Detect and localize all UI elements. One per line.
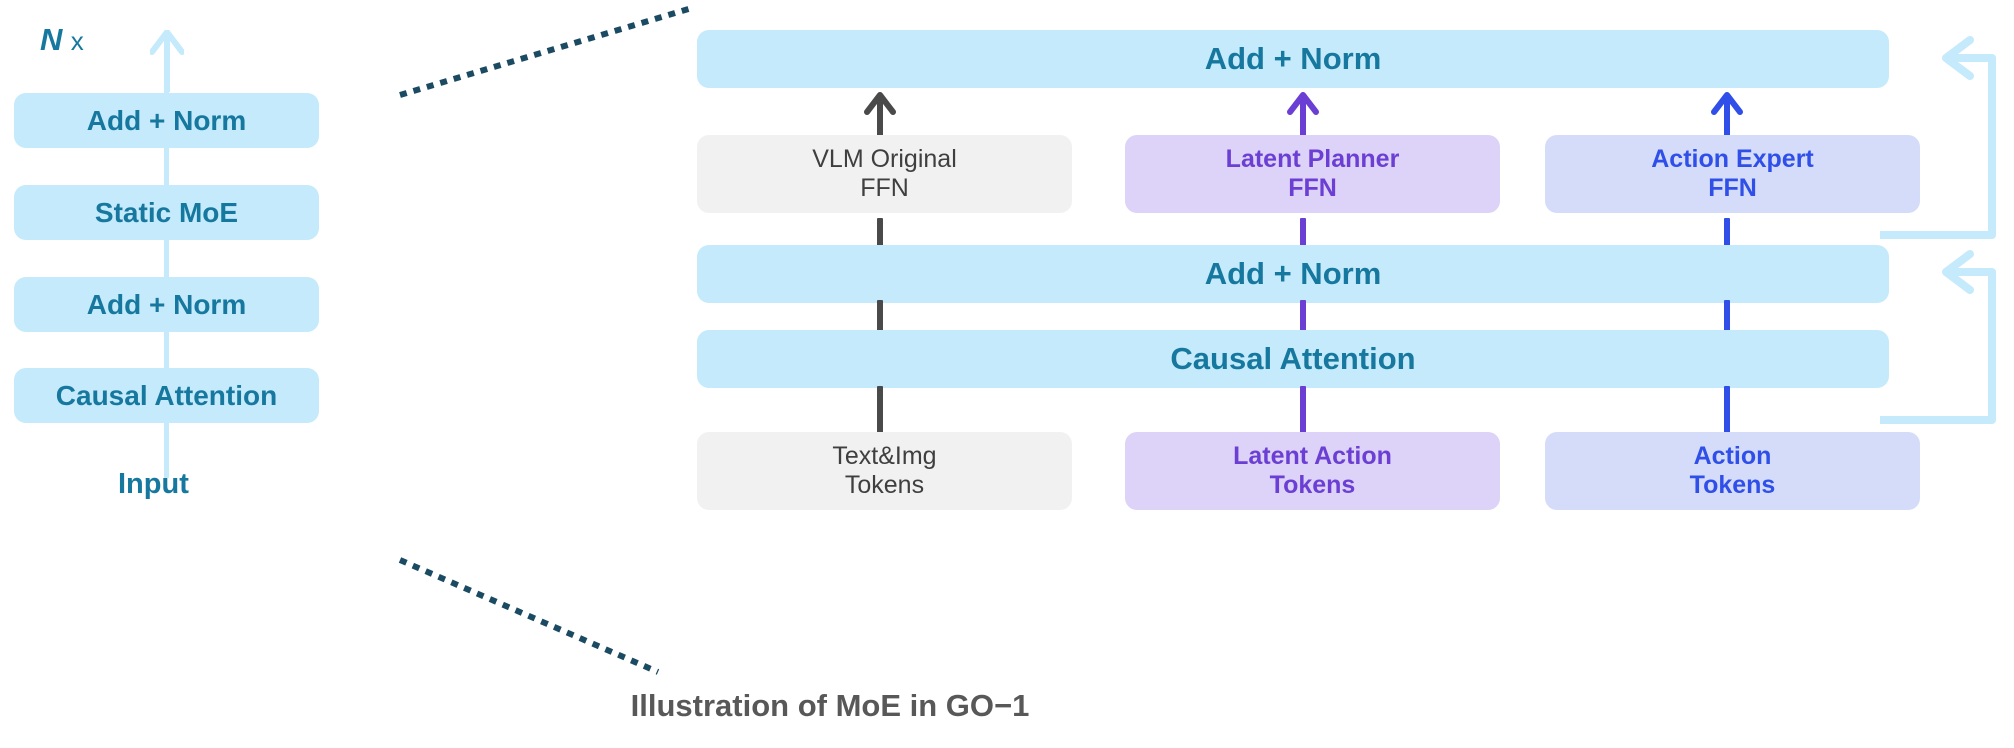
connector-attention-to-addnorm-vlm: [877, 300, 883, 334]
token-box-action[interactable]: Action Tokens: [1545, 432, 1920, 510]
ffn-box-vlm-original[interactable]: VLM Original FFN: [697, 135, 1072, 213]
connector-tokens-to-attention-planner: [1300, 386, 1306, 434]
residual-path-lower: [1880, 272, 1992, 420]
connector-attention-to-addnorm-planner: [1300, 300, 1306, 334]
connector-attention-to-addnorm-action: [1724, 300, 1730, 334]
ffn-to-addnorm-arrow-planner-icon: [1287, 92, 1319, 136]
ffn-to-addnorm-arrow-action-icon: [1711, 92, 1743, 136]
right-add-norm-mid[interactable]: Add + Norm: [697, 245, 1889, 303]
figure-caption: Illustration of MoE in GO−1: [0, 688, 1660, 724]
right-causal-attention[interactable]: Causal Attention: [697, 330, 1889, 388]
connector-tokens-to-attention-vlm: [877, 386, 883, 434]
right-add-norm-top[interactable]: Add + Norm: [697, 30, 1889, 88]
residual-skip-connections: [1880, 20, 2014, 440]
connector-tokens-to-attention-action: [1724, 386, 1730, 434]
ffn-box-action-expert[interactable]: Action Expert FFN: [1545, 135, 1920, 213]
token-box-latent-action[interactable]: Latent Action Tokens: [1125, 432, 1500, 510]
ffn-to-addnorm-arrow-vlm-icon: [864, 92, 896, 136]
token-box-text-img[interactable]: Text&Img Tokens: [697, 432, 1072, 510]
guide-line-bottom: [400, 560, 658, 672]
diagram-canvas: N x Add + Norm Static MoE Add + Norm Cau…: [0, 0, 2014, 748]
ffn-box-latent-planner[interactable]: Latent Planner FFN: [1125, 135, 1500, 213]
guide-line-top: [400, 8, 692, 95]
